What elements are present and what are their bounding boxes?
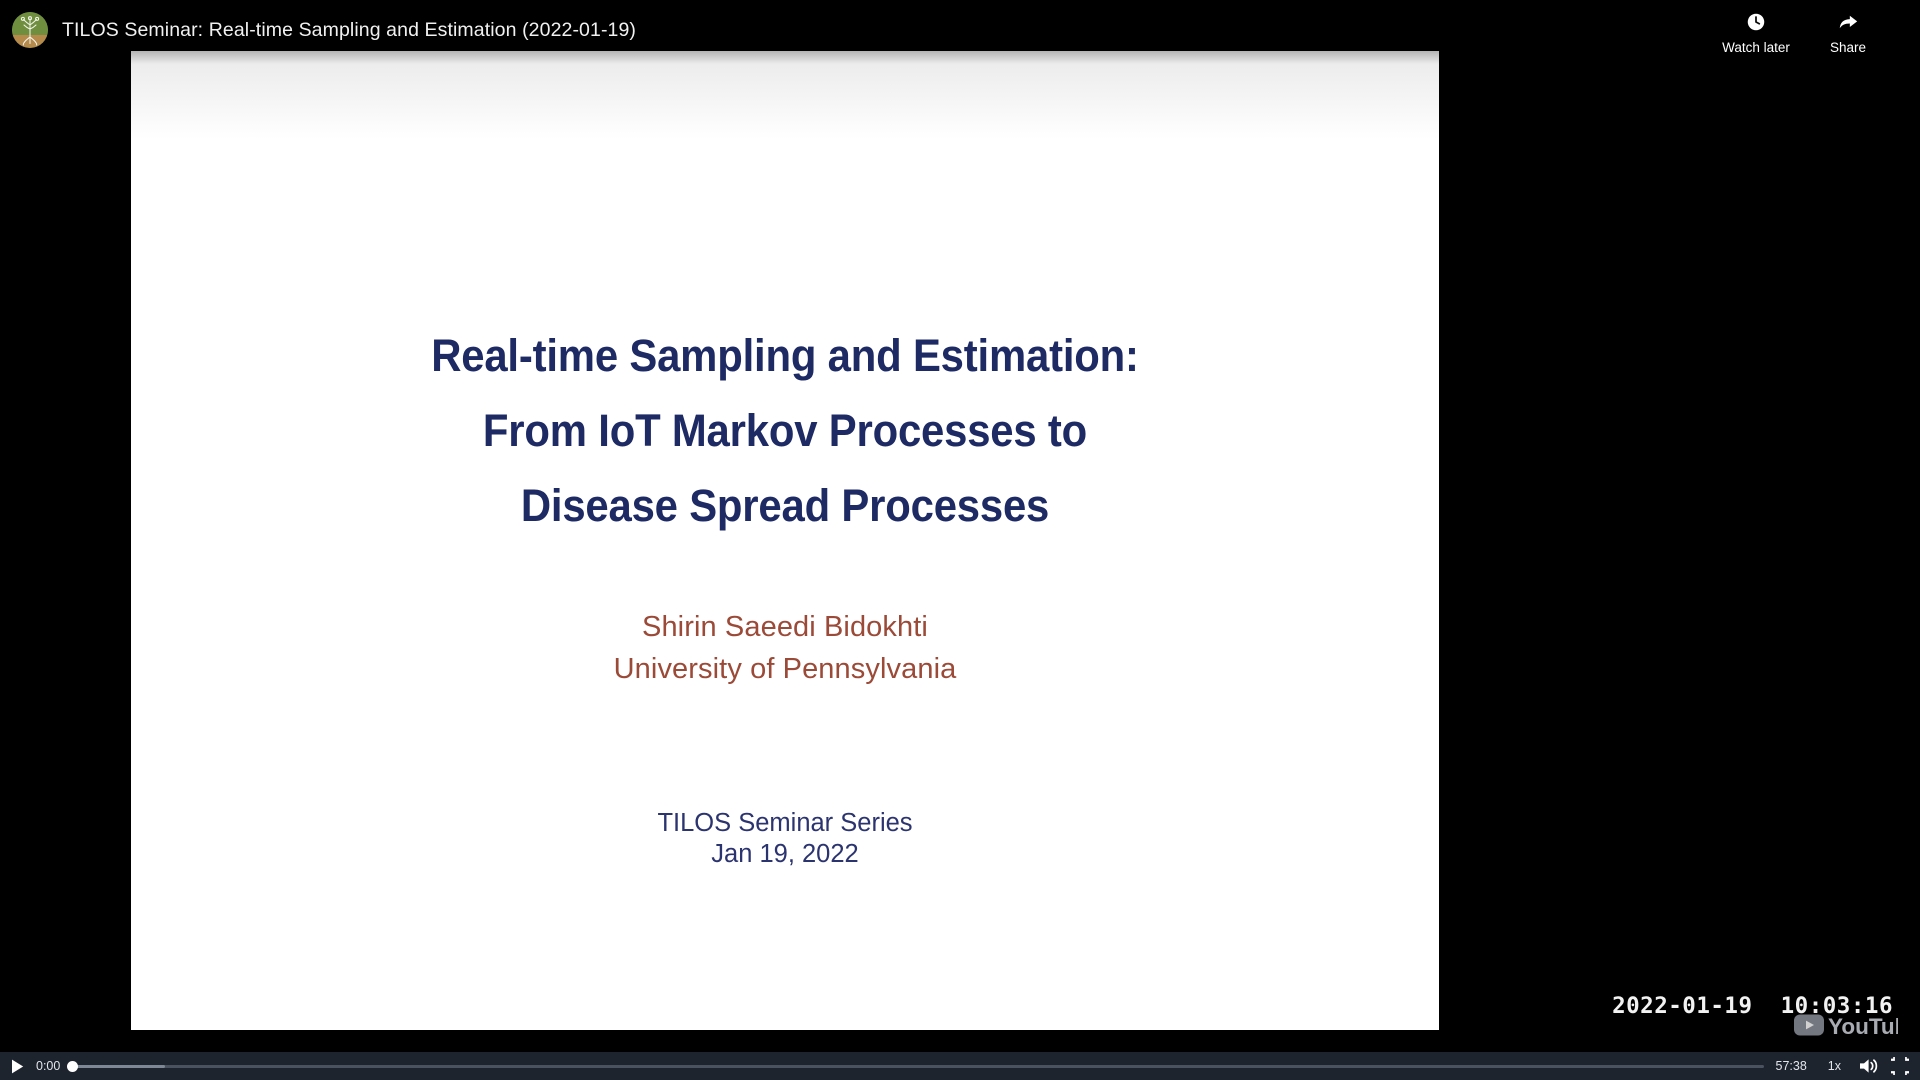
slide-author-name: Shirin Saeedi Bidokhti: [614, 606, 957, 648]
current-time-label: 0:00: [34, 1059, 68, 1073]
progress-buffered: [72, 1065, 165, 1068]
volume-button[interactable]: [1852, 1052, 1886, 1080]
slide-author-affiliation: University of Pennsylvania: [614, 648, 957, 690]
slide-series-name: TILOS Seminar Series: [657, 808, 912, 839]
slide-content: Real-time Sampling and Estimation: From …: [131, 51, 1439, 1030]
presentation-slide: Real-time Sampling and Estimation: From …: [131, 51, 1439, 1030]
slide-title: Real-time Sampling and Estimation: From …: [177, 318, 1393, 543]
youtube-logo[interactable]: YouTube: [1792, 1011, 1898, 1041]
slide-title-line-1: Real-time Sampling and Estimation:: [177, 318, 1393, 393]
video-surface[interactable]: Real-time Sampling and Estimation: From …: [0, 0, 1920, 1080]
play-icon: [11, 1059, 24, 1074]
slide-title-line-2: From IoT Markov Processes to: [177, 393, 1393, 468]
video-player[interactable]: Real-time Sampling and Estimation: From …: [0, 0, 1920, 1080]
exit-fullscreen-icon: [1891, 1057, 1909, 1075]
slide-title-line-3: Disease Spread Processes: [177, 468, 1393, 543]
exit-fullscreen-button[interactable]: [1886, 1052, 1920, 1080]
tilos-tree-logo-icon[interactable]: [12, 12, 48, 48]
svg-text:YouTube: YouTube: [1828, 1014, 1898, 1039]
progress-track[interactable]: [72, 1065, 1763, 1068]
playback-speed-button[interactable]: 1x: [1817, 1052, 1852, 1080]
watch-later-button[interactable]: Watch later: [1710, 10, 1802, 55]
share-label: Share: [1830, 40, 1866, 55]
progress-bar[interactable]: [68, 1052, 1767, 1080]
progress-scrubber-handle[interactable]: [67, 1061, 78, 1072]
watch-later-label: Watch later: [1722, 40, 1790, 55]
share-arrow-icon: [1836, 10, 1860, 34]
slide-author-block: Shirin Saeedi Bidokhti University of Pen…: [614, 606, 957, 690]
top-bar-left: TILOS Seminar: Real-time Sampling and Es…: [0, 0, 636, 48]
top-bar-right: Watch later Share: [1710, 0, 1920, 55]
play-button[interactable]: [0, 1052, 34, 1080]
volume-on-icon: [1859, 1057, 1879, 1075]
duration-label: 57:38: [1768, 1059, 1817, 1073]
video-title[interactable]: TILOS Seminar: Real-time Sampling and Es…: [62, 12, 636, 48]
player-controls-bar[interactable]: 0:00 57:38 1x: [0, 1052, 1920, 1080]
slide-series-date: Jan 19, 2022: [657, 839, 912, 870]
share-button[interactable]: Share: [1802, 10, 1894, 55]
clock-icon: [1745, 10, 1767, 34]
slide-series-block: TILOS Seminar Series Jan 19, 2022: [657, 808, 912, 870]
